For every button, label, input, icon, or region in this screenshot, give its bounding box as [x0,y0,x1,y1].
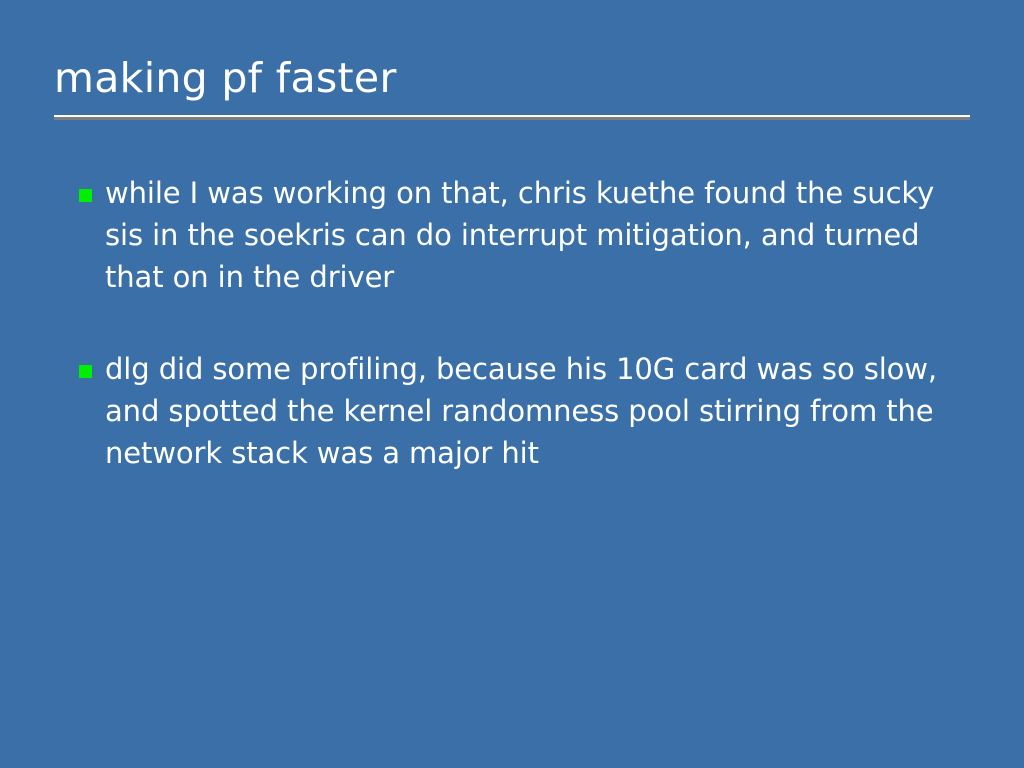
page-title: making pf faster [54,50,970,106]
title-divider-rule [54,115,970,120]
list-item: while I was working on that, chris kueth… [70,172,960,298]
slide-title-block: making pf faster [54,50,970,106]
bullet-text: while I was working on that, chris kueth… [105,172,960,298]
title-divider-shadow [54,117,970,120]
green-square-bullet-icon [79,365,92,378]
slide-body: while I was working on that, chris kueth… [70,172,960,474]
green-square-bullet-icon [79,189,92,202]
list-item: dlg did some profiling, because his 10G … [70,348,960,474]
bullet-text: dlg did some profiling, because his 10G … [105,348,960,474]
presentation-slide: making pf faster while I was working on … [0,0,1024,768]
